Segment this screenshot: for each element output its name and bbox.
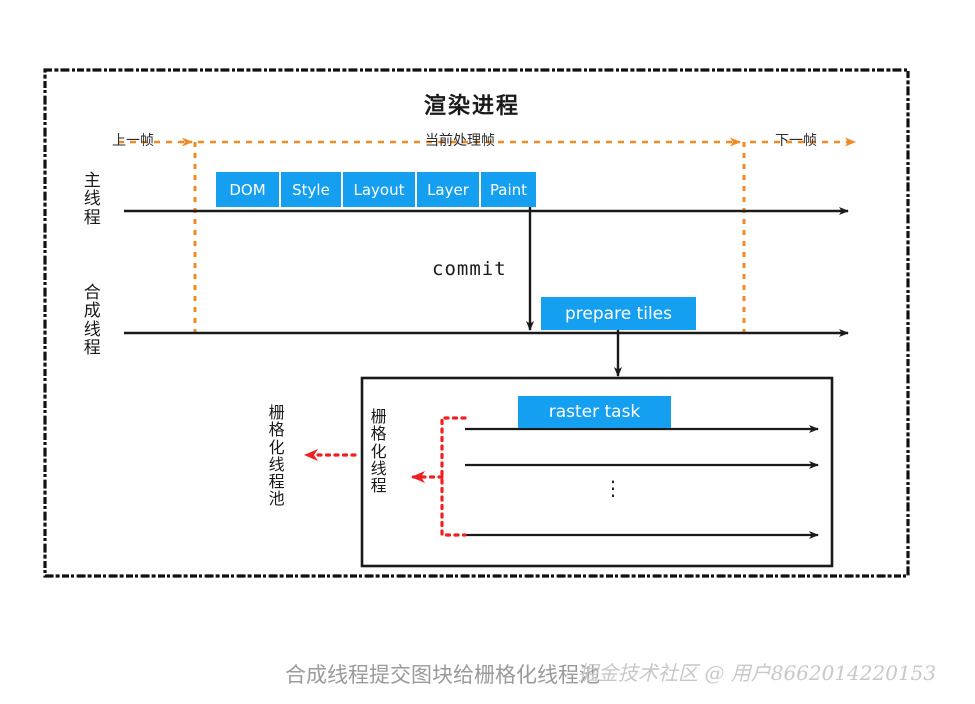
raster-threads-ellipsis: ⋮: [603, 485, 619, 492]
raster-thread-label: 栅格化线程: [369, 408, 388, 494]
stage-chip-paint[interactable]: Paint: [481, 172, 536, 207]
stage-chip-layout[interactable]: Layout: [343, 172, 415, 207]
marker-previous-frame: 上一帧: [112, 130, 154, 150]
lane-label-compositor-thread: 合成线程: [82, 284, 102, 357]
stage-chip-layer[interactable]: Layer: [417, 172, 479, 207]
stage-chip-style[interactable]: Style: [281, 172, 341, 207]
lane-label-main-thread: 主线程: [82, 172, 102, 227]
watermark-text: 掘金技术社区 @ 用户8662014220153: [578, 657, 936, 686]
raster-task-chip[interactable]: raster task: [518, 396, 671, 428]
raster-thread-lines: [465, 429, 818, 535]
raster-thread-pool-label: 栅格化线程池: [267, 404, 286, 508]
marker-next-frame: 下一帧: [775, 130, 817, 150]
commit-label: commit: [432, 258, 507, 280]
figure-caption: 合成线程提交图块给栅格化线程池: [285, 659, 600, 689]
page-title: 渲染进程: [424, 88, 520, 120]
prepare-tiles-chip[interactable]: prepare tiles: [541, 297, 696, 330]
marker-current-frame: 当前处理帧: [425, 130, 495, 150]
diagram-canvas: 渲染进程 上一帧 当前处理帧 下一帧 主线程 合成线程 DOM Style La…: [0, 0, 975, 704]
stage-chip-dom[interactable]: DOM: [216, 172, 279, 207]
